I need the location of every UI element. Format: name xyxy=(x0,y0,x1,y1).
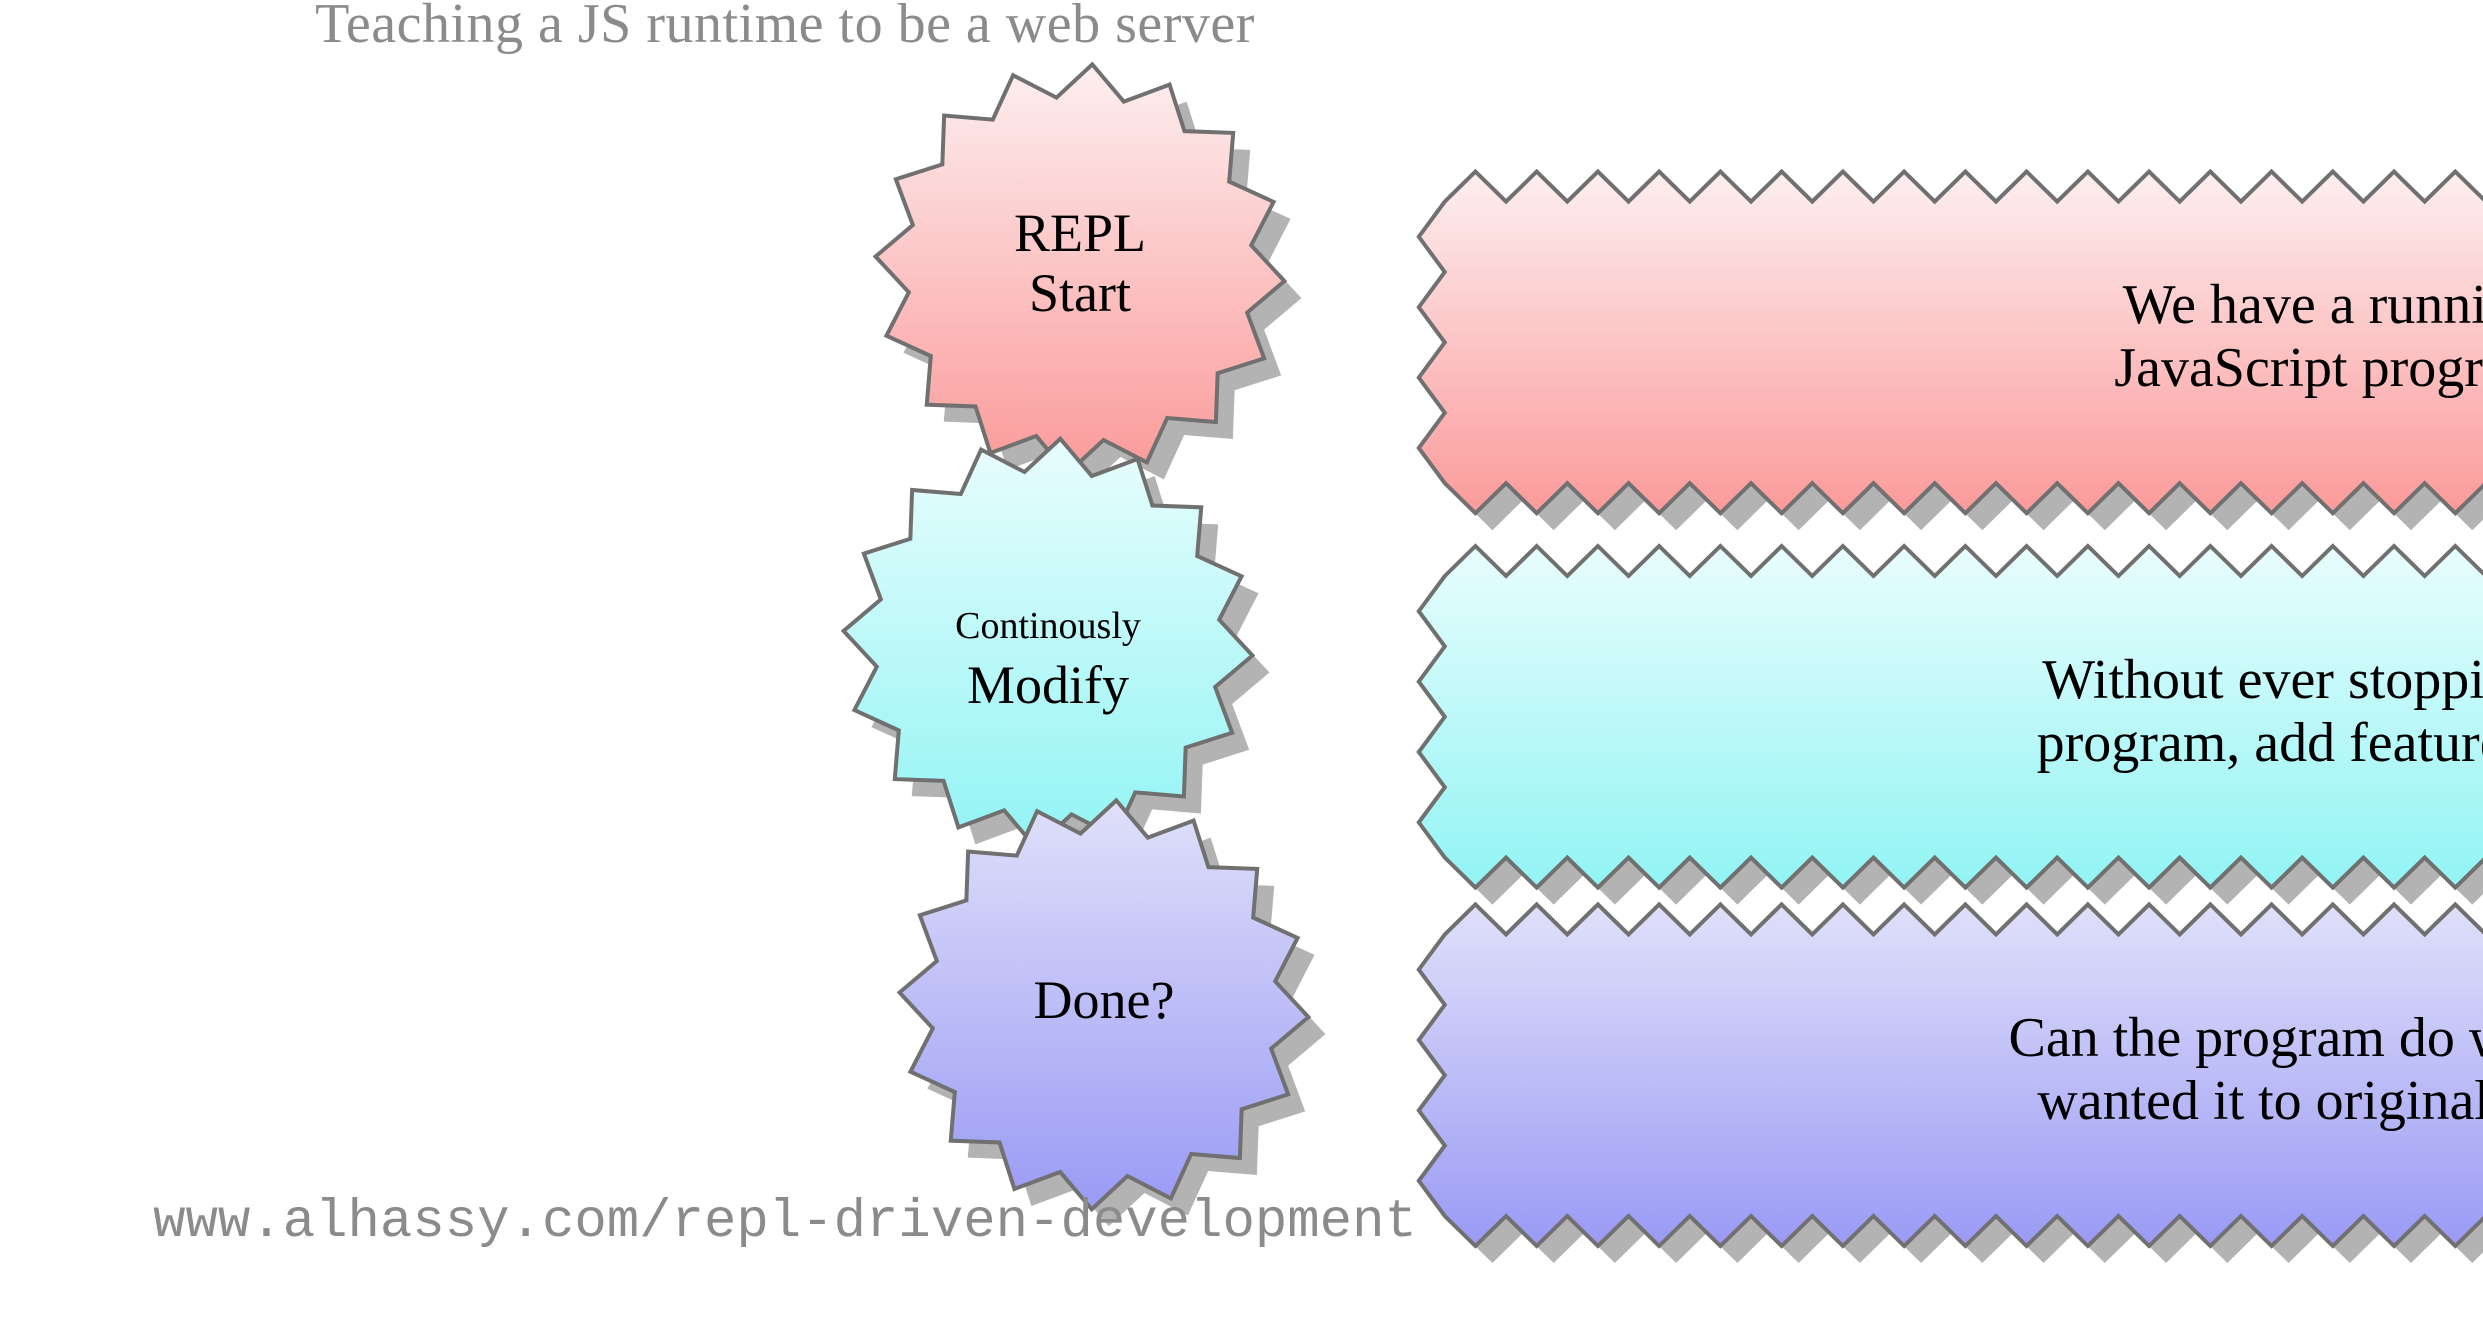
star-label-2: Done? xyxy=(939,970,1269,1030)
diagram-row-continously-modify: Modify Continously Without ever stopping… xyxy=(0,0,2483,1334)
row-1-graphics xyxy=(0,0,2483,1334)
star-label-0: REPL Start xyxy=(915,203,1245,324)
row-2-graphics xyxy=(0,0,2483,1334)
star-label-1: Modify xyxy=(883,655,1213,715)
diagram-row-done: Done? Can the program do what we wanted … xyxy=(0,0,2483,1334)
row-0-graphics xyxy=(0,0,2483,1334)
page-title: Teaching a JS runtime to be a web server xyxy=(0,0,1570,56)
banner-text-0: We have a running JavaScript program xyxy=(1445,274,2483,399)
banner-text-2: Can the program do what we wanted it to … xyxy=(1445,1007,2483,1132)
star-small-label-1: Continously xyxy=(883,605,1213,648)
footer-url: www.alhassy.com/repl-driven-development xyxy=(0,1192,1570,1253)
slide-canvas: Teaching a JS runtime to be a web server… xyxy=(0,0,2483,1334)
diagram-row-repl-start: REPL Start We have a running JavaScript … xyxy=(0,0,2483,1334)
banner-text-1: Without ever stopping the program, add f… xyxy=(1445,649,2483,774)
